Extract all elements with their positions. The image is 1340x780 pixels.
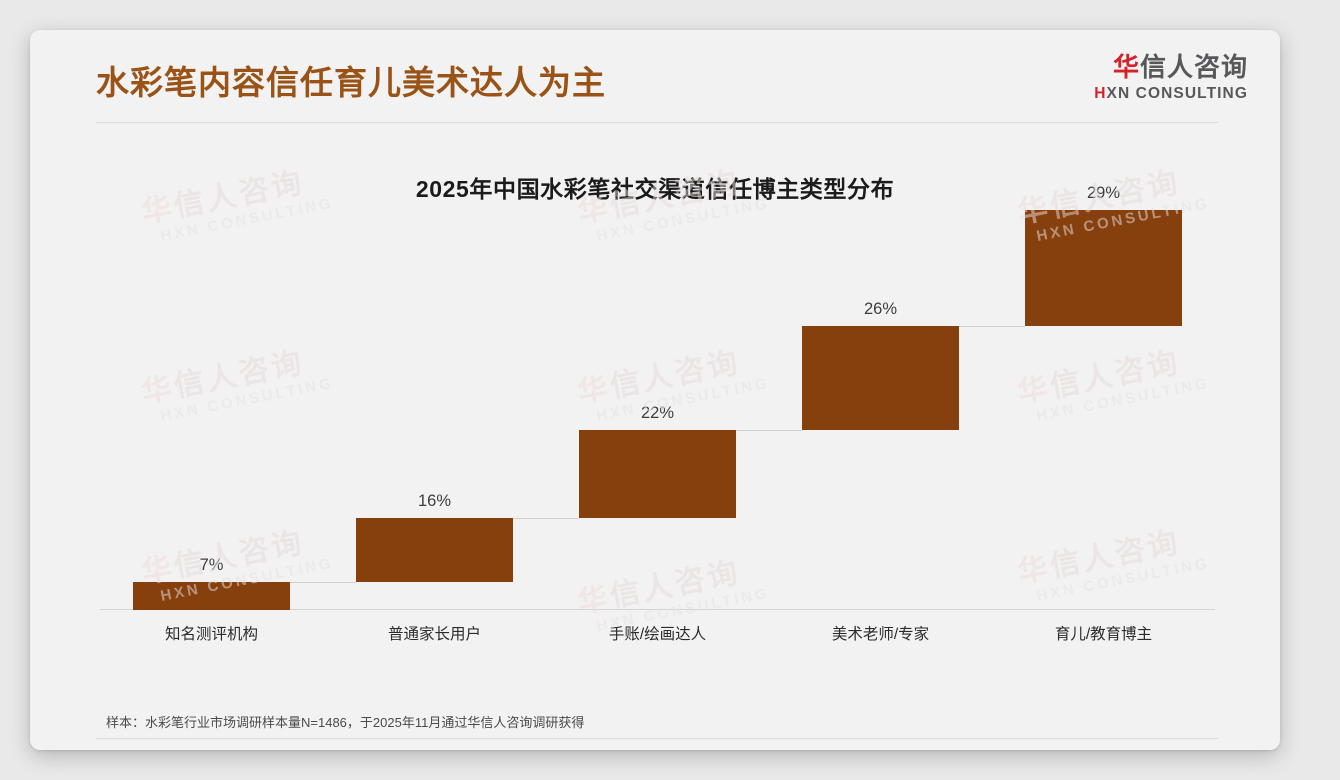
x-axis-category-label: 手账/绘画达人: [538, 622, 778, 644]
bar-value-label: 26%: [821, 300, 941, 319]
x-axis-category-label: 育儿/教育博主: [984, 622, 1224, 644]
logo-en-text: HXN CONSULTING: [1094, 86, 1248, 102]
waterfall-connector: [736, 430, 803, 431]
waterfall-connector: [959, 326, 1026, 327]
waterfall-bar: [579, 430, 735, 518]
waterfall-connector: [290, 582, 357, 583]
footer-website[interactable]: www.hxrcon.com: [1120, 749, 1218, 750]
footer-copyright: ©2026.1 HXR华信人咨询: [96, 749, 241, 750]
waterfall-connector: [513, 518, 580, 519]
waterfall-bar: [133, 582, 289, 610]
header-divider: [96, 122, 1218, 123]
logo-cn-text: 华信人咨询: [1094, 54, 1248, 80]
waterfall-bar: [802, 326, 958, 430]
slide-card: 华信人咨询 HXN CONSULTING 华信人咨询 HXN CONSULTIN…: [30, 30, 1280, 750]
bar-value-label: 29%: [1044, 184, 1164, 203]
logo-en-accent: H: [1094, 85, 1106, 102]
slide-header: 水彩笔内容信任育儿美术达人为主 华信人咨询 HXN CONSULTING: [30, 30, 1280, 123]
logo-en-rest: XN CONSULTING: [1107, 85, 1248, 102]
x-axis-category-label: 美术老师/专家: [761, 622, 1001, 644]
waterfall-bar: [1025, 210, 1181, 326]
x-axis-category-label: 知名测评机构: [92, 622, 332, 644]
waterfall-bar: [356, 518, 512, 582]
waterfall-chart-plot: 7%16%22%26%29%: [70, 210, 1240, 610]
logo-cn-accent: 华: [1113, 52, 1140, 82]
x-axis-category-label: 普通家长用户: [315, 622, 555, 644]
company-logo: 华信人咨询 HXN CONSULTING: [1094, 54, 1248, 102]
bar-value-label: 16%: [375, 492, 495, 511]
footer-divider: [96, 738, 1218, 739]
screenshot-stage: 华信人咨询 HXN CONSULTING 华信人咨询 HXN CONSULTIN…: [0, 0, 1340, 780]
bar-value-label: 7%: [152, 556, 272, 575]
chart-footnote: 样本：水彩笔行业市场调研样本量N=1486，于2025年11月通过华信人咨询调研…: [106, 712, 584, 731]
bar-value-label: 22%: [598, 404, 718, 423]
page-title: 水彩笔内容信任育儿美术达人为主: [96, 56, 606, 104]
logo-cn-rest: 信人咨询: [1140, 52, 1248, 82]
